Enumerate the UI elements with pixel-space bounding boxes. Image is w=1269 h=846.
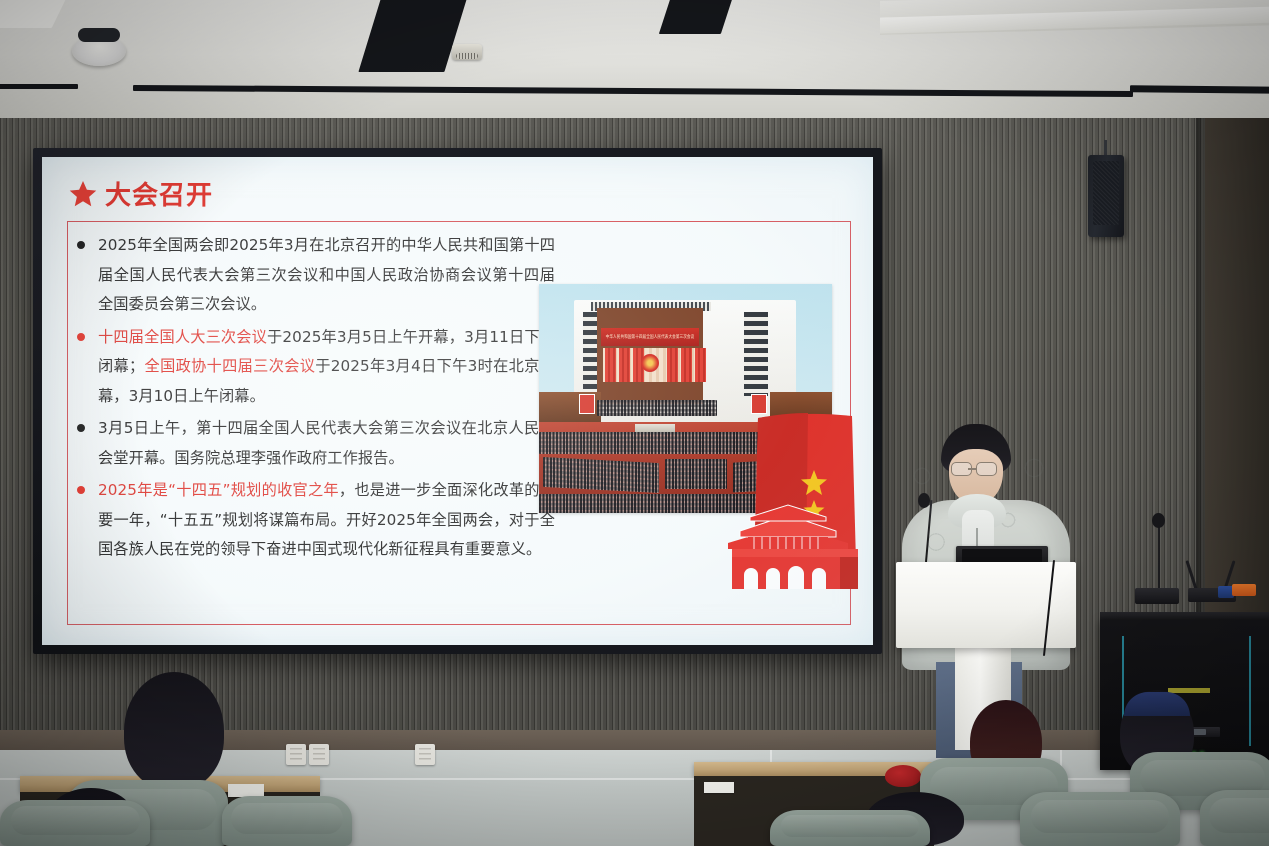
desk-paper	[704, 782, 734, 793]
power-outlet[interactable]	[415, 744, 435, 765]
list-item: 3月5日上午，第十四届全国人民代表大会第三次会议在北京人民大会堂开幕。国务院总理…	[77, 414, 555, 473]
page-title: 大会召开	[105, 175, 213, 212]
bullet-marker	[77, 424, 85, 432]
bullet-marker	[77, 333, 85, 341]
slide-title-group: 大会召开	[68, 175, 213, 212]
bullet-list: 2025年全国两会即2025年3月在北京召开的中华人民共和国第十四届全国人民代表…	[77, 231, 555, 568]
hair-band	[1124, 692, 1190, 716]
bullet-text: 十四届全国人大三次会议于2025年3月5日上午开幕，3月11日下午闭幕；全国政协…	[98, 323, 555, 412]
red-star-icon	[68, 179, 98, 209]
bullet-marker	[77, 241, 85, 249]
orange-device	[1232, 584, 1256, 596]
power-outlet[interactable]	[309, 744, 329, 765]
tiananmen-gate-icon	[714, 487, 862, 597]
microphone-base[interactable]	[1135, 588, 1179, 604]
red-item-on-desk	[885, 765, 921, 787]
bullet-marker	[77, 486, 85, 494]
bullet-text: 3月5日上午，第十四届全国人民代表大会第三次会议在北京人民大会堂开幕。国务院总理…	[98, 414, 555, 473]
gooseneck-microphone-stem	[1158, 520, 1160, 590]
audience-chair	[222, 796, 352, 846]
list-item: 2025年是“十四五”规划的收官之年，也是进一步全面深化改革的重要一年，“十五五…	[77, 476, 555, 565]
bullet-text: 2025年是“十四五”规划的收官之年，也是进一步全面深化改革的重要一年，“十五五…	[98, 476, 555, 565]
wall-speaker-icon	[1088, 155, 1124, 237]
gooseneck-microphone-icon	[1152, 513, 1165, 528]
audience-chair	[1020, 792, 1180, 846]
power-outlet[interactable]	[286, 744, 306, 765]
podium-microphone-icon	[918, 493, 930, 508]
smoke-detector-icon	[452, 44, 482, 60]
audience-chair	[1200, 790, 1269, 846]
eyeglasses-icon	[976, 462, 997, 476]
audience-chair	[770, 810, 930, 846]
projection-screen-frame: 大会召开 2025年全国两会即2025年3月在北京召开的中华人民共和国第十四届全…	[33, 148, 882, 654]
list-item: 2025年全国两会即2025年3月在北京召开的中华人民共和国第十四届全国人民代表…	[77, 231, 555, 320]
presentation-slide: 大会召开 2025年全国两会即2025年3月在北京召开的中华人民共和国第十四届全…	[42, 157, 873, 645]
audience-head	[124, 672, 224, 790]
hall-banner: 中华人民共和国第十四届全国人民代表大会第三次会议	[601, 328, 699, 346]
list-item: 十四届全国人大三次会议于2025年3月5日上午开幕，3月11日下午闭幕；全国政协…	[77, 323, 555, 412]
conference-room-photo: 大会召开 2025年全国两会即2025年3月在北京召开的中华人民共和国第十四届全…	[0, 0, 1269, 846]
bullet-text: 2025年全国两会即2025年3月在北京召开的中华人民共和国第十四届全国人民代表…	[98, 231, 555, 320]
banner-text: 中华人民共和国第十四届全国人民代表大会第三次会议	[606, 334, 695, 340]
ceiling-speaker-icon	[72, 36, 126, 66]
ceiling	[0, 0, 1269, 120]
audience-chair	[0, 800, 150, 846]
